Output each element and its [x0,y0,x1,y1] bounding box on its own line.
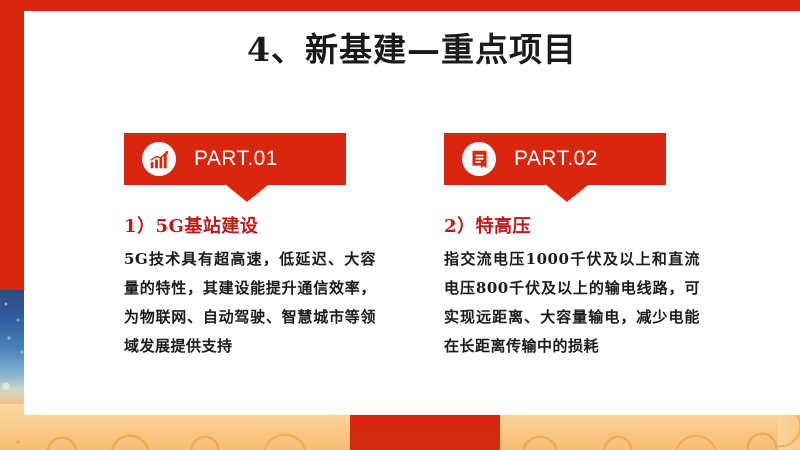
content-column-part-02: PART.02 2）特高压 指交流电压1000千伏及以上和直流电压800千伏及以… [444,133,744,361]
document-bookmark-icon [462,142,496,176]
decorative-bottom-red-strip [350,430,500,450]
page-title: 4、新基建—重点项目 [24,23,800,71]
banner-notch-icon [226,185,268,202]
slide-white-page: 4、新基建—重点项目 PART.01 1）5G基站建设 [24,11,800,415]
banner-label-part-02: PART.02 [514,147,598,171]
slide-canvas: 4、新基建—重点项目 PART.01 1）5G基站建设 [0,0,800,450]
banner-part-01[interactable]: PART.01 [124,133,346,185]
body-text-5g: 5G技术具有超高速，低延迟、大容量的特性，其建设能提升通信效率，为物联网、自动驾… [124,245,376,361]
body-text-uhv: 指交流电压1000千伏及以上和直流电压800千伏及以上的输电线路，可实现远距离、… [444,245,700,361]
banner-notch-icon [546,185,588,202]
sub-heading-5g: 1）5G基站建设 [124,212,424,238]
sub-heading-uhv: 2）特高压 [444,212,744,238]
banner-part-02[interactable]: PART.02 [444,133,666,185]
content-column-part-01: PART.01 1）5G基站建设 5G技术具有超高速，低延迟、大容量的特性，其建… [124,133,424,361]
banner-label-part-01: PART.01 [194,147,278,171]
bar-chart-growth-icon [142,142,176,176]
